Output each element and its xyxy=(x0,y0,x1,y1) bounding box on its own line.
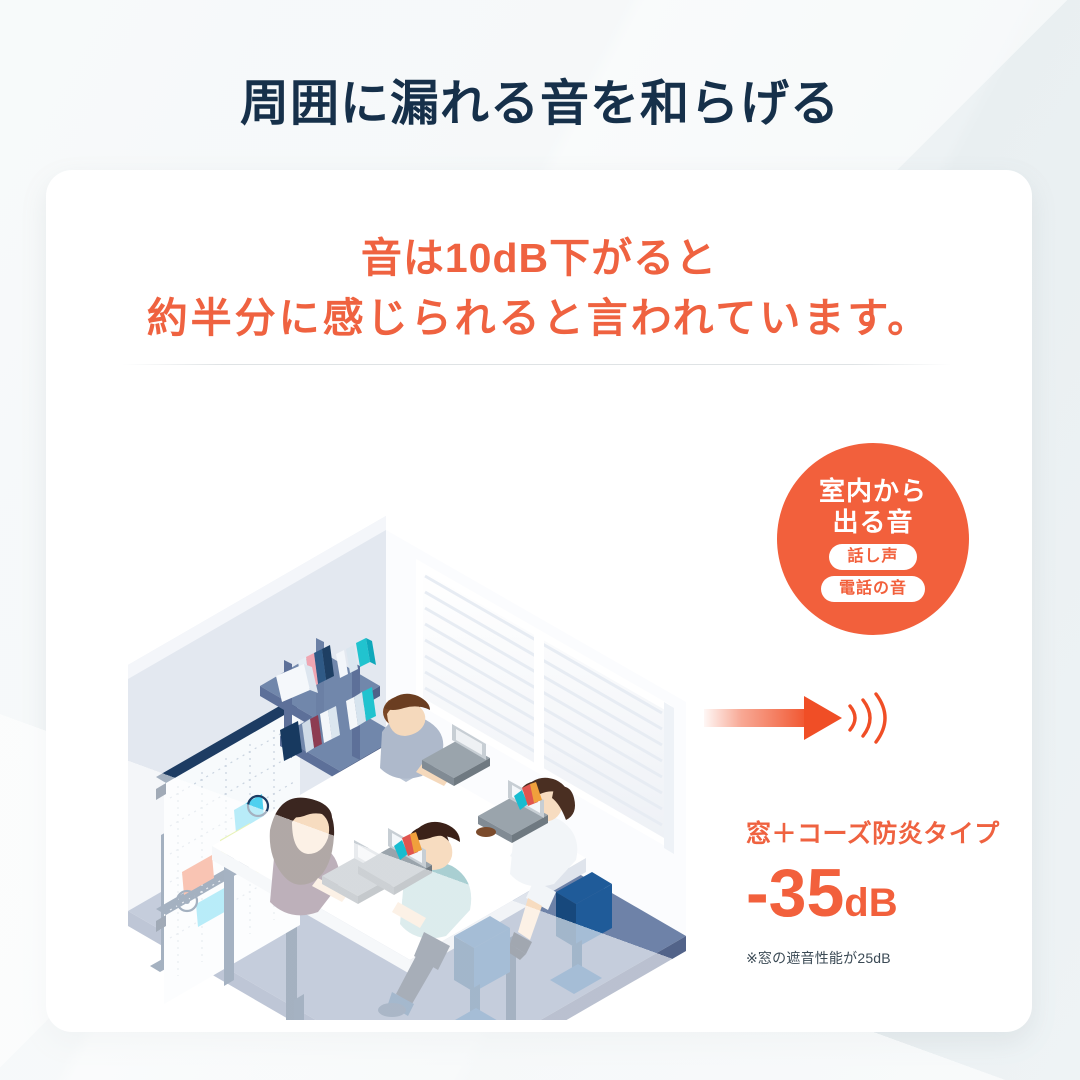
badge-title-line-1: 室内から xyxy=(819,476,927,507)
stat-value: -35 xyxy=(746,855,844,931)
lead-statement: 音は10dB下がると 約半分に感じられると言われています。 xyxy=(46,228,1032,348)
arrow-shape xyxy=(704,696,842,740)
content-card: 音は10dB下がると 約半分に感じられると言われています。 xyxy=(46,170,1032,1032)
performance-stat: 窓＋コーズ防炎タイプ -35dB ※窓の遮音性能が25dB xyxy=(746,814,1008,968)
lead-line-2: 約半分に感じられると言われています。 xyxy=(46,288,1032,348)
stat-unit: dB xyxy=(844,881,897,925)
badge-title-line-2: 出る音 xyxy=(819,507,927,538)
sound-wave-arcs xyxy=(850,694,885,742)
badge-pill-phone: 電話の音 xyxy=(821,576,925,602)
stat-note: ※窓の遮音性能が25dB xyxy=(746,948,1008,968)
stat-label: 窓＋コーズ防炎タイプ xyxy=(746,814,1008,850)
badge-pill-voice: 話し声 xyxy=(829,544,916,570)
stat-value-row: -35dB xyxy=(746,854,1008,942)
indoor-sound-badge: 室内から 出る音 話し声 電話の音 xyxy=(777,443,969,635)
lead-line-1: 音は10dB下がると xyxy=(46,228,1032,288)
section-divider xyxy=(122,364,952,365)
page-title: 周囲に漏れる音を和らげる xyxy=(0,64,1080,135)
badge-title: 室内から 出る音 xyxy=(819,476,927,538)
sound-leak-arrow xyxy=(704,686,894,750)
poster-canvas: 周囲に漏れる音を和らげる 音は10dB下がると 約半分に感じられると言われていま… xyxy=(0,0,1080,1080)
isometric-office-illustration xyxy=(86,380,766,1020)
